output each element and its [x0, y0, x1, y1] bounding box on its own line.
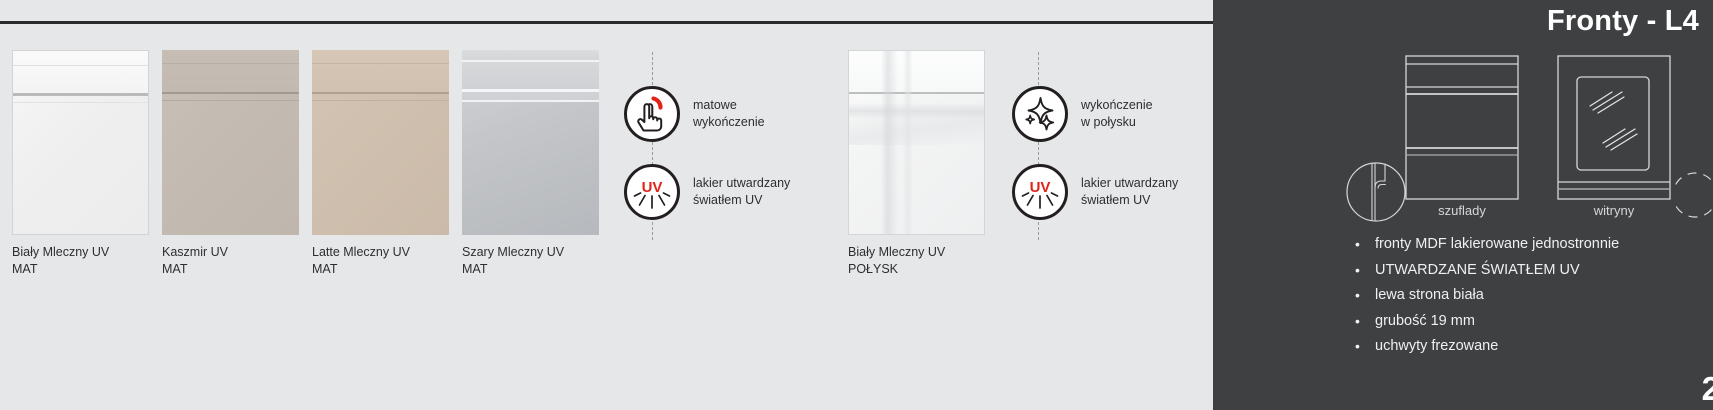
- sample-caption: Kaszmir UV MAT: [162, 244, 228, 277]
- door-groove: [849, 92, 984, 94]
- door-face: [462, 50, 599, 235]
- door-band: [462, 92, 599, 100]
- drawers-diagram-icon: szuflady: [1405, 55, 1519, 215]
- list-item: UTWARDZANE ŚWIATŁEM UV: [1353, 258, 1703, 284]
- door-groove: [312, 92, 449, 94]
- sample-caption: Biały Mleczny UV MAT: [12, 244, 109, 277]
- sample-latte-mleczny-mat[interactable]: Latte Mleczny UV MAT: [312, 50, 449, 235]
- features-matte: matowe wykończenie UV lakier utwardzany …: [624, 86, 790, 242]
- list-item: grubość 19 mm: [1353, 309, 1703, 335]
- gloss-reflection: [903, 51, 913, 234]
- feature-uv-lakier-gloss[interactable]: UV lakier utwardzany światłem UV: [1012, 164, 1178, 220]
- door-groove: [162, 63, 299, 64]
- sample-bialy-mleczny-mat[interactable]: Biały Mleczny UV MAT: [12, 50, 149, 235]
- door-groove: [13, 93, 148, 96]
- diagram-label: szuflady: [1405, 203, 1519, 218]
- feature-label: wykończenie w połysku: [1081, 97, 1153, 131]
- features-gloss: wykończenie w połysku UV lakier utwardza…: [1012, 86, 1178, 242]
- door-groove: [312, 100, 449, 101]
- door-top-band: [849, 51, 984, 92]
- gloss-reflection: [881, 51, 898, 234]
- feature-uv-lakier-matte[interactable]: UV lakier utwardzany światłem UV: [624, 164, 790, 220]
- corner-arc-decoration: [1675, 167, 1713, 223]
- sample-bialy-mleczny-polysk[interactable]: Biały Mleczny UV POŁYSK: [848, 50, 985, 235]
- page-title: Fronty - L4: [1547, 5, 1699, 38]
- sample-caption: Biały Mleczny UV POŁYSK: [848, 244, 945, 277]
- door-top-band: [162, 50, 299, 92]
- sample-caption: Latte Mleczny UV MAT: [312, 244, 410, 277]
- svg-text:UV: UV: [1030, 179, 1051, 196]
- door-top-band: [13, 51, 148, 93]
- door-groove: [312, 63, 449, 64]
- sample-caption: Szary Mleczny UV MAT: [462, 244, 564, 277]
- feature-matowe-wykonczenie[interactable]: matowe wykończenie: [624, 86, 790, 142]
- svg-text:UV: UV: [642, 179, 663, 196]
- door-groove: [13, 102, 148, 103]
- diagrams-row: szuflady: [1213, 55, 1713, 225]
- door-face: [12, 50, 149, 235]
- feature-label: matowe wykończenie: [693, 97, 765, 131]
- list-item: uchwyty frezowane: [1353, 334, 1703, 360]
- list-item: lewa strona biała: [1353, 283, 1703, 309]
- door-groove: [13, 65, 148, 66]
- sample-kaszmir-mat[interactable]: Kaszmir UV MAT: [162, 50, 299, 235]
- list-item: fronty MDF lakierowane jednostronnie: [1353, 232, 1703, 258]
- milled-handle-profile-icon: [1344, 160, 1408, 224]
- uv-sun-icon: UV: [1012, 164, 1068, 220]
- door-groove: [462, 100, 599, 102]
- door-groove: [162, 100, 299, 101]
- door-face: [162, 50, 299, 235]
- feature-label: lakier utwardzany światłem UV: [693, 175, 790, 209]
- pointing-hand-icon: [624, 86, 680, 142]
- page-number: 2: [1702, 370, 1713, 408]
- feature-label: lakier utwardzany światłem UV: [1081, 175, 1178, 209]
- spec-bullet-list: fronty MDF lakierowane jednostronnie UTW…: [1353, 232, 1703, 360]
- door-top-band: [312, 50, 449, 92]
- door-face: [312, 50, 449, 235]
- sparkle-icon: [1012, 86, 1068, 142]
- door-face: [848, 50, 985, 235]
- info-panel: Fronty - L4: [1213, 0, 1713, 410]
- feature-wykonczenie-w-polysku[interactable]: wykończenie w połysku: [1012, 86, 1178, 142]
- gloss-reflection: [849, 111, 984, 145]
- door-groove: [162, 92, 299, 94]
- diagram-label: witryny: [1557, 203, 1671, 218]
- slide-root: Biały Mleczny UV MAT Kaszmir UV MAT Latt…: [0, 0, 1713, 410]
- sample-szary-mleczny-mat[interactable]: Szary Mleczny UV MAT: [462, 50, 599, 235]
- door-band: [462, 62, 599, 89]
- glass-cabinet-diagram-icon: witryny: [1557, 55, 1671, 215]
- door-top-band: [462, 50, 599, 60]
- header-rule-left: [0, 21, 1213, 24]
- uv-sun-icon: UV: [624, 164, 680, 220]
